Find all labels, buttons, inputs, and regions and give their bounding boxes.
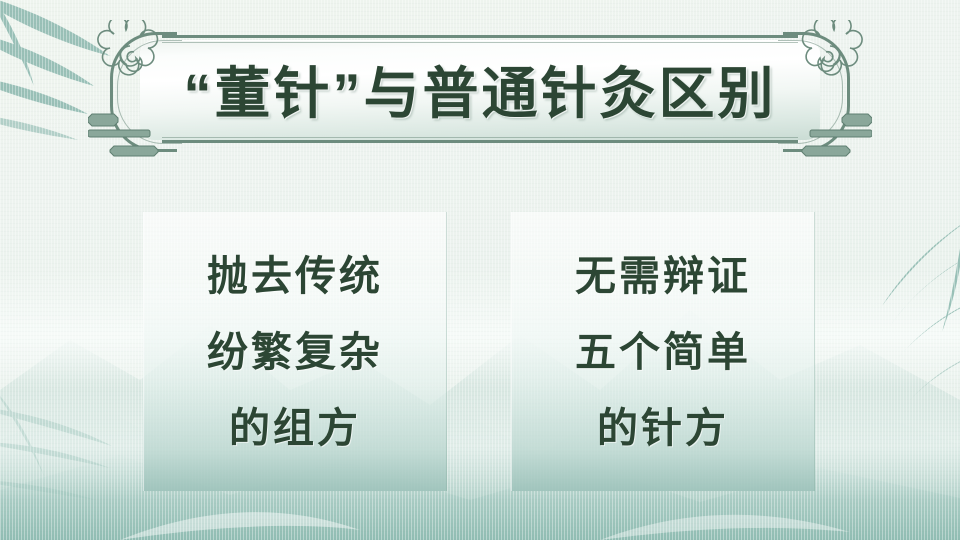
decorative-bars-icon [786,108,872,160]
content-panel-right: 无需辩证 五个简单 的针方 [511,212,815,491]
cloud-scroll-icon [794,20,868,94]
slide-canvas: “董针”与普通针灸区别 抛去传统 纷繁复杂 的组方 无需辩证 五个简单 的针方 [0,0,960,540]
panel-right-line-2: 五个简单 [575,332,751,373]
panel-left-line-2: 纷繁复杂 [207,332,383,373]
decorative-bars-icon [88,108,174,160]
panel-right-line-3: 的针方 [597,408,729,449]
bamboo-leaves-icon [0,380,160,530]
panel-left-line-1: 抛去传统 [207,256,383,297]
bamboo-leaves-icon [816,200,960,430]
cloud-scroll-icon [92,20,166,94]
panel-left-line-3: 的组方 [229,408,361,449]
content-panel-left: 抛去传统 纷繁复杂 的组方 [143,212,447,491]
panel-right-line-1: 无需辩证 [575,256,751,297]
page-title: “董针”与普通针灸区别 [88,26,872,152]
title-banner: “董针”与普通针灸区别 [88,26,872,152]
